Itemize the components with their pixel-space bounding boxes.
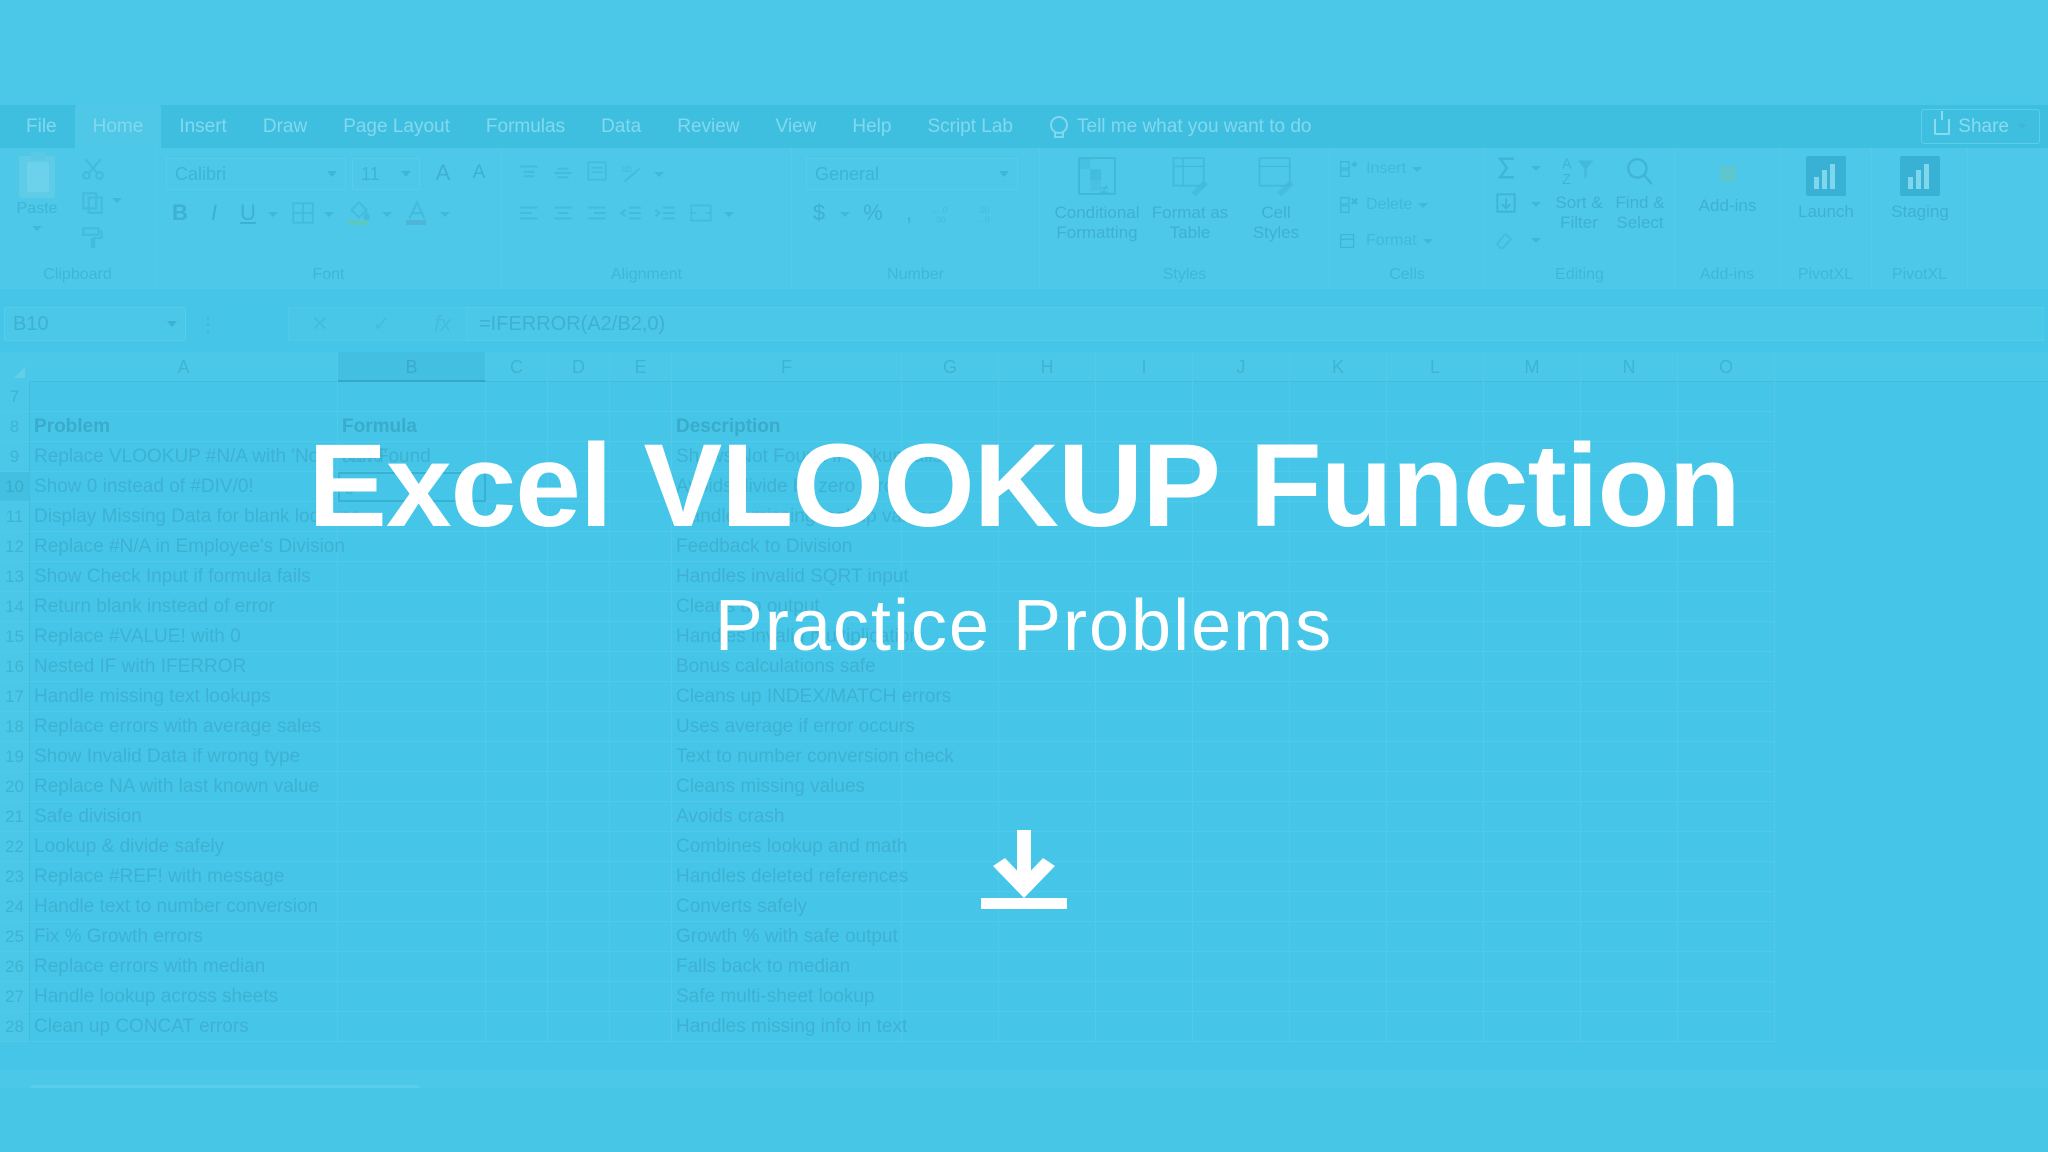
screenshot-root: File Home Insert Draw Page Layout Formul… [0, 0, 2048, 1152]
title-overlay: Excel VLOOKUP Function Practice Problems [0, 0, 2048, 1152]
down-arrow-icon [969, 830, 1079, 910]
page-title: Excel VLOOKUP Function [308, 425, 1739, 549]
page-subtitle: Practice Problems [715, 585, 1333, 667]
